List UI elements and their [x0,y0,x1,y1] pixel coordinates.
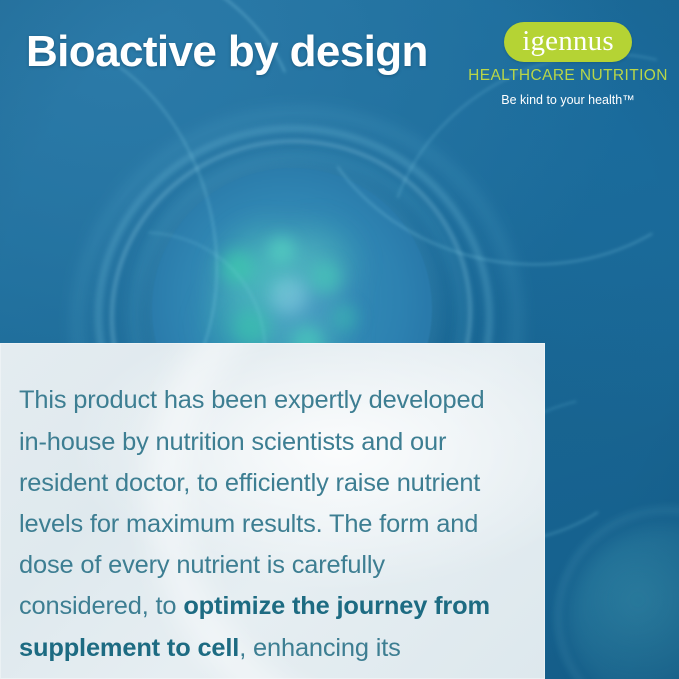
brand-logo: igennus HEALTHCARE NUTRITION Be kind to … [468,22,668,107]
logo-subtitle: HEALTHCARE NUTRITION [468,67,668,85]
logo-wordmark: igennus [522,27,614,56]
page-title: Bioactive by design [26,29,428,75]
logo-pill: igennus [504,22,632,62]
description-text: This product has been expertly developed… [19,380,493,679]
description-part-1: This product has been expertly developed… [19,386,484,620]
logo-tagline: Be kind to your health™ [468,93,668,107]
description-panel: This product has been expertly developed… [0,343,545,679]
product-infographic: Bioactive by design igennus HEALTHCARE N… [0,0,679,679]
